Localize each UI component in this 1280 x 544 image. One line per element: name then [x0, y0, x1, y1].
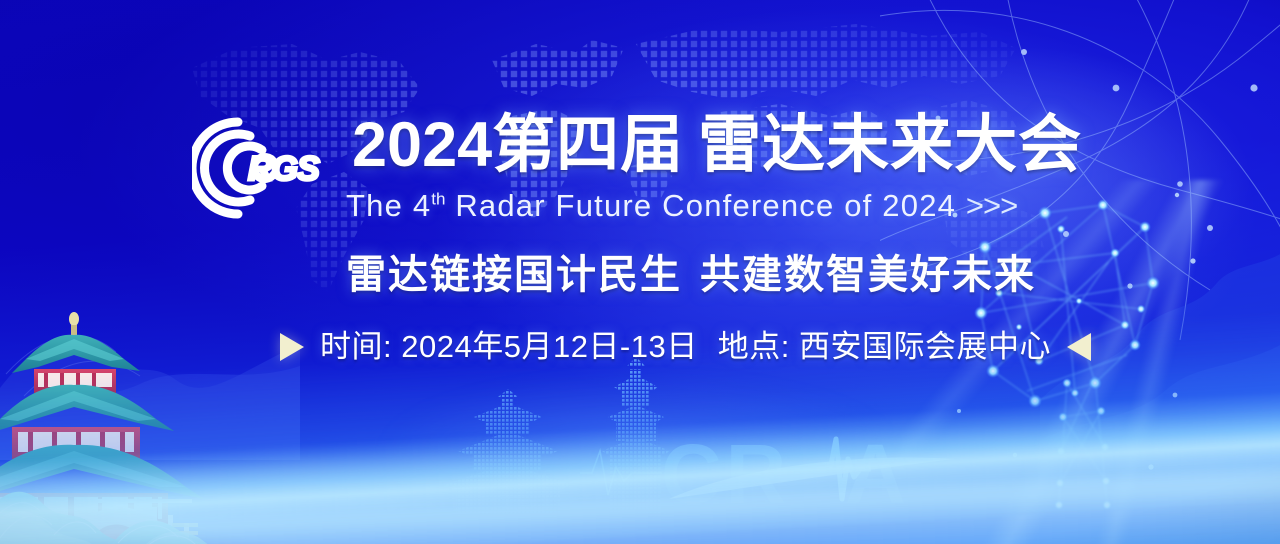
place-value: 西安国际会展中心: [799, 329, 1051, 364]
slogan-left: 雷达链接国计民生: [346, 253, 682, 297]
place-label: 地点:: [718, 329, 790, 364]
chevrons-icon: >>>: [966, 188, 1017, 223]
event-meta-text: 时间: 2024年5月12日-13日地点: 西安国际会展中心: [320, 331, 1051, 362]
conference-banner: CR A: [0, 0, 1280, 544]
rgs-logo: RGS: [192, 116, 342, 220]
english-subtitle: The 4th Radar Future Conference of 2024 …: [346, 190, 1017, 221]
subtitle-ordinal: th: [431, 190, 445, 209]
time-value: 2024年5月12日-13日: [401, 329, 698, 364]
headline-event: 雷达未来大会: [698, 110, 1082, 180]
slogan: 雷达链接国计民生共建数智美好未来: [346, 255, 1036, 295]
headline-edition: 第四届: [492, 110, 684, 180]
triangle-left-icon: [1067, 333, 1091, 361]
subtitle-rest: Radar Future Conference of 2024: [446, 188, 957, 223]
time-label: 时间:: [320, 329, 392, 364]
event-meta: 时间: 2024年5月12日-13日地点: 西安国际会展中心: [280, 331, 1091, 362]
triangle-right-icon: [280, 333, 304, 361]
page-title: 2024第四届雷达未来大会: [352, 114, 1082, 177]
headline-year: 2024: [352, 110, 492, 180]
banner-content: RGS 2024第四届雷达未来大会 The 4th Radar Future C…: [0, 0, 1280, 544]
subtitle-prefix: The 4: [346, 188, 431, 223]
slogan-right: 共建数智美好未来: [700, 253, 1036, 297]
rgs-logo-text: RGS: [248, 150, 320, 188]
